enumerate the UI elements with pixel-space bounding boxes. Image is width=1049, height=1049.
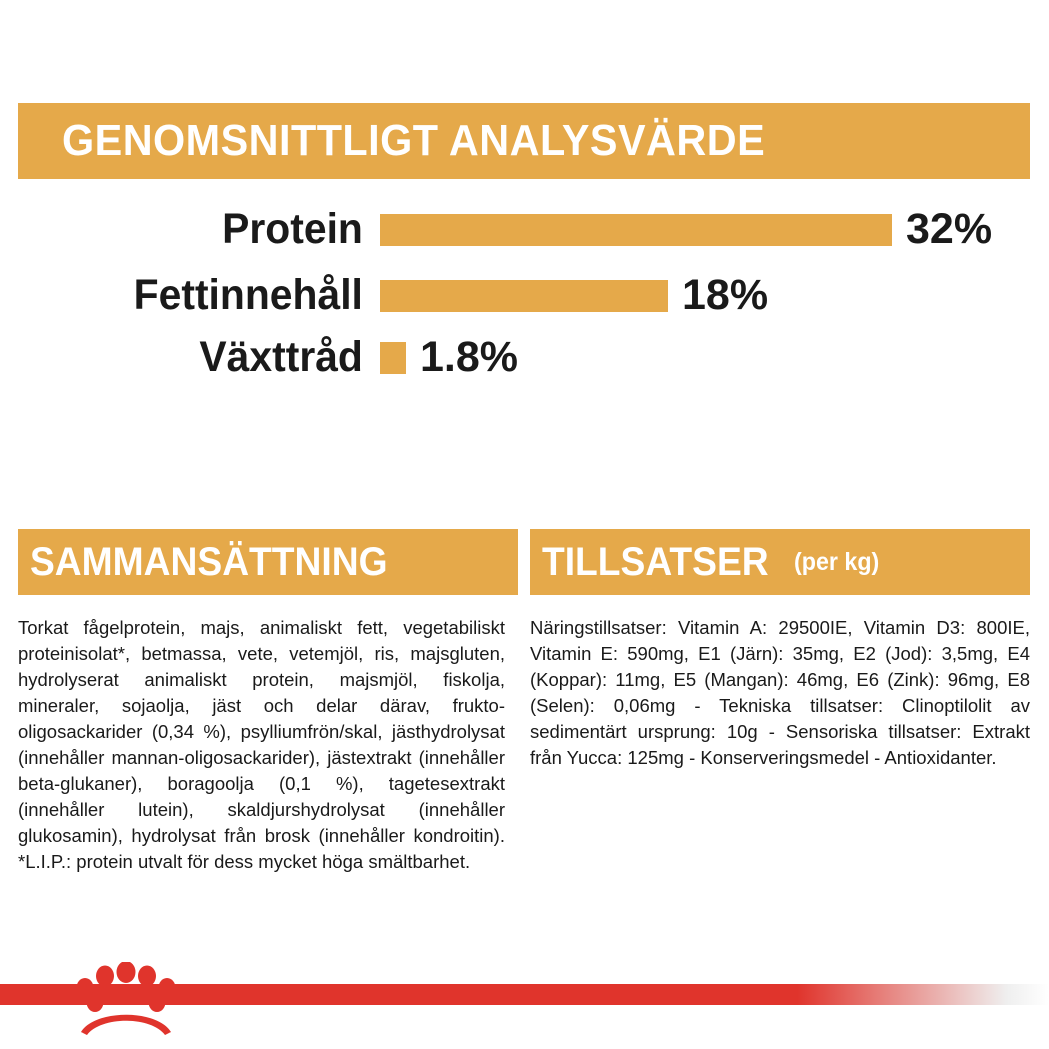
chart-bar-protein xyxy=(380,214,892,246)
additives-header: TILLSATSER (per kg) xyxy=(530,529,1030,595)
chart-bar-vaxttrad xyxy=(380,342,406,374)
footer xyxy=(0,984,1049,1049)
chart-value-vaxttrad: 1.8% xyxy=(406,336,518,379)
chart-value-protein: 32% xyxy=(892,208,992,251)
additives-header-title: TILLSATSER xyxy=(542,542,769,582)
chart-label-protein: Protein xyxy=(19,208,380,251)
chart-label-vaxttrad: Växttråd xyxy=(19,336,380,379)
chart-label-fettinnehall: Fettinnehåll xyxy=(19,274,380,317)
additives-header-unit: (per kg) xyxy=(794,550,879,575)
composition-header-title: SAMMANSÄTTNING xyxy=(30,542,388,582)
chart-row-vaxttrad: Växttråd 1.8% xyxy=(0,336,1049,379)
chart-row-fettinnehall: Fettinnehåll 18% xyxy=(0,274,1049,317)
analysis-banner-title: GENOMSNITTLIGT ANALYSVÄRDE xyxy=(62,119,765,163)
average-analysis-chart: Protein 32% Fettinnehåll 18% Växttråd 1.… xyxy=(0,206,1049,401)
chart-row-protein: Protein 32% xyxy=(0,208,1049,251)
composition-body: Torkat fågelprotein, majs, animaliskt fe… xyxy=(18,615,505,875)
additives-body: Näringstillsatser: Vitamin A: 29500IE, V… xyxy=(530,615,1030,771)
analysis-banner: GENOMSNITTLIGT ANALYSVÄRDE xyxy=(18,103,1030,179)
composition-header: SAMMANSÄTTNING xyxy=(18,529,518,595)
chart-value-fettinnehall: 18% xyxy=(668,274,768,317)
chart-bar-fettinnehall xyxy=(380,280,668,312)
royal-canin-crown-icon xyxy=(71,962,181,1038)
